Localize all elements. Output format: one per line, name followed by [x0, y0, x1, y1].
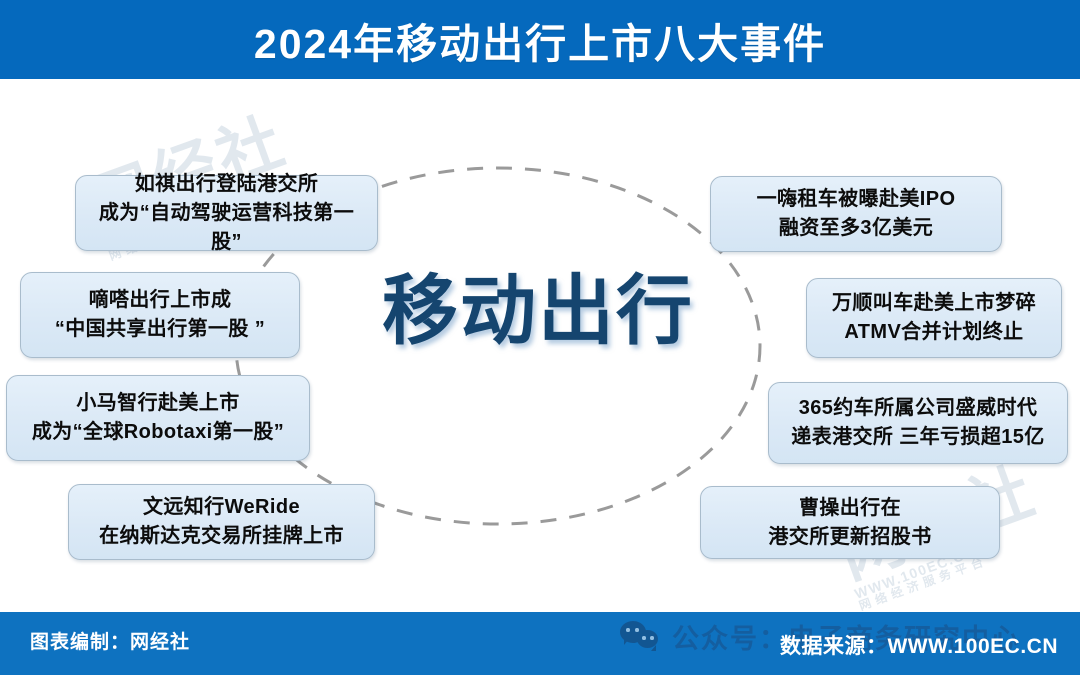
event-line-1: 如祺出行登陆港交所 — [135, 170, 319, 199]
event-box-left-3[interactable]: 小马智行赴美上市 成为“全球Robotaxi第一股” — [6, 375, 310, 461]
event-line-2: 在纳斯达克交易所挂牌上市 — [99, 522, 344, 551]
footer-source: 数据来源：WWW.100EC.CN — [780, 630, 1058, 660]
event-line-1: 365约车所属公司盛威时代 — [799, 394, 1038, 423]
center-label: 移动出行 — [348, 272, 728, 352]
event-box-right-1[interactable]: 一嗨租车被曝赴美IPO 融资至多3亿美元 — [710, 176, 1002, 252]
event-box-right-4[interactable]: 曹操出行在 港交所更新招股书 — [700, 486, 1000, 559]
event-line-2: 融资至多3亿美元 — [779, 214, 933, 243]
event-box-left-2[interactable]: 嘀嗒出行上市成 “中国共享出行第一股 ” — [20, 272, 300, 358]
event-line-2: 递表港交所 三年亏损超15亿 — [791, 423, 1044, 452]
event-line-1: 文远知行WeRide — [143, 493, 300, 522]
infographic-canvas: 网经社 WWW.100EC.CN 网络经济服务平台 网经社 WWW.100EC.… — [0, 0, 1080, 675]
event-box-right-3[interactable]: 365约车所属公司盛威时代 递表港交所 三年亏损超15亿 — [768, 382, 1068, 464]
event-box-left-4[interactable]: 文远知行WeRide 在纳斯达克交易所挂牌上市 — [68, 484, 375, 560]
event-line-2: “中国共享出行第一股 ” — [55, 315, 265, 344]
event-line-1: 嘀嗒出行上市成 — [89, 286, 232, 315]
event-box-left-1[interactable]: 如祺出行登陆港交所 成为“自动驾驶运营科技第一股” — [75, 175, 378, 251]
event-line-2: 成为“自动驾驶运营科技第一股” — [86, 199, 367, 257]
event-line-2: ATMV合并计划终止 — [844, 318, 1023, 347]
event-line-1: 一嗨租车被曝赴美IPO — [757, 185, 956, 214]
event-line-1: 曹操出行在 — [799, 494, 901, 523]
event-line-1: 小马智行赴美上市 — [76, 389, 239, 418]
event-line-2: 港交所更新招股书 — [768, 523, 931, 552]
event-box-right-2[interactable]: 万顺叫车赴美上市梦碎 ATMV合并计划终止 — [806, 278, 1062, 358]
event-line-2: 成为“全球Robotaxi第一股” — [32, 418, 284, 447]
page-title: 2024年移动出行上市八大事件 — [0, 0, 1080, 79]
event-line-1: 万顺叫车赴美上市梦碎 — [832, 289, 1036, 318]
footer-credit: 图表编制：网经社 — [30, 627, 190, 654]
